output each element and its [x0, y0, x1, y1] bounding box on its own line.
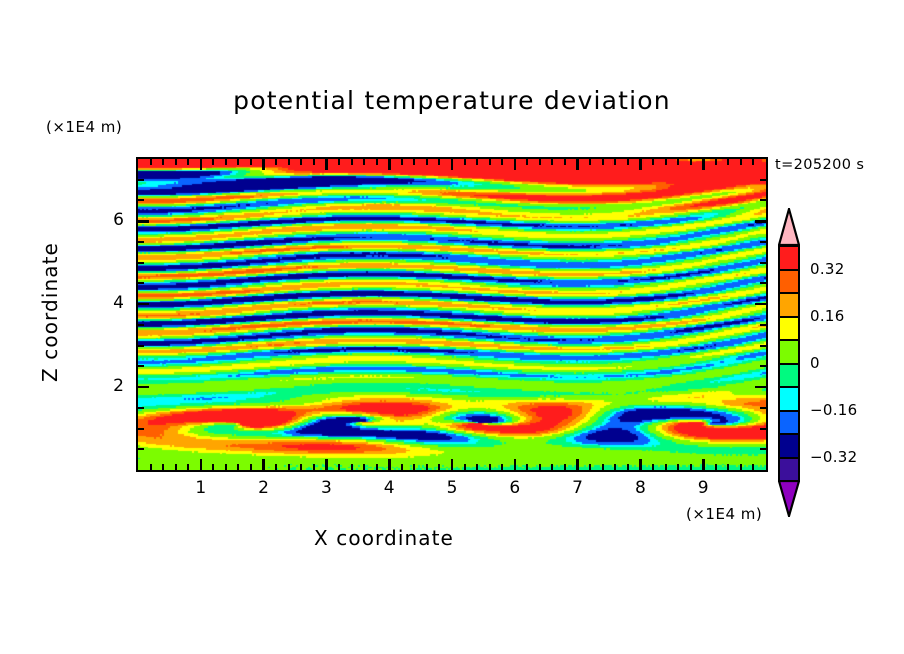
x-tick-major-top — [262, 159, 265, 170]
x-tick-major — [576, 459, 579, 470]
x-tick-major — [388, 459, 391, 470]
x-tick-minor-top — [401, 159, 403, 165]
x-tick-minor-top — [212, 159, 214, 165]
colorbar-band — [778, 245, 800, 271]
y-axis-title: Z coordinate — [38, 202, 62, 422]
colorbar-band — [778, 386, 800, 412]
x-tick-minor — [338, 464, 340, 470]
x-tick-label: 1 — [186, 478, 216, 498]
y-tick-minor-right — [760, 324, 766, 326]
colorbar-cap-top — [778, 208, 800, 245]
x-tick-major-top — [576, 159, 579, 170]
y-tick-minor-right — [760, 345, 766, 347]
x-tick-minor-top — [539, 159, 541, 165]
colorbar-band — [778, 410, 800, 436]
x-tick-minor-top — [150, 159, 152, 165]
y-tick-minor-right — [760, 428, 766, 430]
colorbar-tick-label: −0.16 — [810, 401, 857, 419]
colorbar-band — [778, 292, 800, 318]
x-tick-minor — [740, 464, 742, 470]
x-axis-unit: (×1E4 m) — [686, 505, 762, 523]
x-tick-minor — [526, 464, 528, 470]
x-tick-major — [514, 459, 517, 470]
x-tick-minor-top — [175, 159, 177, 165]
x-tick-major-top — [639, 159, 642, 170]
colorbar-tick-label: 0.16 — [810, 307, 845, 325]
x-tick-minor — [363, 464, 365, 470]
x-tick-minor — [690, 464, 692, 470]
x-tick-minor — [313, 464, 315, 470]
y-tick-label: 6 — [94, 210, 124, 230]
x-tick-minor-top — [677, 159, 679, 165]
x-tick-minor — [413, 464, 415, 470]
x-tick-minor — [489, 464, 491, 470]
x-tick-minor — [376, 464, 378, 470]
x-tick-minor-top — [740, 159, 742, 165]
x-tick-minor — [187, 464, 189, 470]
x-tick-minor-top — [727, 159, 729, 165]
x-tick-minor-top — [225, 159, 227, 165]
x-tick-minor — [665, 464, 667, 470]
y-tick-minor — [138, 282, 144, 284]
x-tick-minor-top — [551, 159, 553, 165]
y-tick-minor — [138, 428, 144, 430]
x-tick-minor-top — [627, 159, 629, 165]
y-tick-minor-right — [760, 448, 766, 450]
colorbar-band — [778, 269, 800, 295]
x-tick-minor-top — [351, 159, 353, 165]
x-tick-label: 7 — [563, 478, 593, 498]
x-tick-minor — [237, 464, 239, 470]
x-tick-minor-top — [237, 159, 239, 165]
x-tick-minor — [752, 464, 754, 470]
x-axis-title: X coordinate — [0, 526, 768, 550]
y-tick-major — [138, 303, 149, 306]
x-tick-minor — [275, 464, 277, 470]
y-tick-minor-right — [760, 365, 766, 367]
x-tick-minor-top — [288, 159, 290, 165]
time-annotation: t=205200 s — [775, 157, 864, 173]
y-tick-minor — [138, 262, 144, 264]
colorbar-tick-label: −0.32 — [810, 448, 857, 466]
x-tick-minor — [715, 464, 717, 470]
x-tick-minor — [539, 464, 541, 470]
x-tick-minor — [250, 464, 252, 470]
contour-field — [138, 159, 766, 470]
x-tick-major — [262, 459, 265, 470]
y-tick-label: 4 — [94, 293, 124, 313]
x-tick-label: 6 — [500, 478, 530, 498]
x-tick-minor — [589, 464, 591, 470]
colorbar-band — [778, 363, 800, 389]
colorbar-tick-label: 0 — [810, 354, 820, 372]
y-tick-minor — [138, 241, 144, 243]
x-tick-minor — [614, 464, 616, 470]
x-tick-minor-top — [313, 159, 315, 165]
colorbar-tick-label: 0.32 — [810, 260, 845, 278]
x-tick-minor-top — [300, 159, 302, 165]
x-tick-minor-top — [376, 159, 378, 165]
x-tick-major — [451, 459, 454, 470]
colorbar-cap-bottom — [778, 480, 800, 517]
x-tick-minor-top — [162, 159, 164, 165]
x-tick-minor-top — [652, 159, 654, 165]
x-tick-minor-top — [526, 159, 528, 165]
y-tick-minor-right — [760, 407, 766, 409]
x-tick-label: 5 — [437, 478, 467, 498]
y-tick-minor — [138, 324, 144, 326]
x-tick-minor — [501, 464, 503, 470]
y-tick-minor-right — [760, 199, 766, 201]
x-tick-minor — [150, 464, 152, 470]
x-tick-minor — [351, 464, 353, 470]
x-tick-minor-top — [187, 159, 189, 165]
y-tick-minor-right — [760, 262, 766, 264]
x-tick-minor — [288, 464, 290, 470]
x-tick-minor-top — [426, 159, 428, 165]
x-tick-minor — [602, 464, 604, 470]
x-tick-minor — [464, 464, 466, 470]
y-tick-minor-right — [760, 179, 766, 181]
x-tick-minor-top — [589, 159, 591, 165]
y-tick-major-right — [755, 386, 766, 389]
x-tick-minor-top — [363, 159, 365, 165]
x-tick-major-top — [451, 159, 454, 170]
x-tick-major-top — [200, 159, 203, 170]
x-tick-minor — [677, 464, 679, 470]
colorbar-band — [778, 316, 800, 342]
x-tick-minor-top — [690, 159, 692, 165]
colorbar: 0.320.160−0.16−0.32 — [778, 208, 802, 515]
y-tick-major-right — [755, 303, 766, 306]
colorbar-band — [778, 339, 800, 365]
y-tick-label: 2 — [94, 376, 124, 396]
page-title: potential temperature deviation — [0, 86, 904, 115]
x-tick-minor — [162, 464, 164, 470]
y-tick-minor — [138, 345, 144, 347]
x-tick-major — [200, 459, 203, 470]
x-tick-minor — [476, 464, 478, 470]
y-tick-minor — [138, 365, 144, 367]
y-tick-major — [138, 220, 149, 223]
x-tick-major — [325, 459, 328, 470]
x-tick-minor — [300, 464, 302, 470]
colorbar-band — [778, 433, 800, 459]
x-tick-minor — [401, 464, 403, 470]
x-tick-minor — [727, 464, 729, 470]
x-tick-minor-top — [715, 159, 717, 165]
x-tick-minor — [438, 464, 440, 470]
x-tick-minor-top — [250, 159, 252, 165]
contour-plot-area — [136, 157, 768, 472]
z-axis-unit: (×1E4 m) — [46, 118, 122, 136]
x-tick-minor-top — [489, 159, 491, 165]
x-tick-minor — [225, 464, 227, 470]
x-tick-major-top — [514, 159, 517, 170]
x-tick-minor — [212, 464, 214, 470]
y-tick-minor — [138, 407, 144, 409]
x-tick-label: 9 — [688, 478, 718, 498]
x-tick-minor — [175, 464, 177, 470]
x-tick-major-top — [702, 159, 705, 170]
x-tick-major — [639, 459, 642, 470]
x-tick-label: 4 — [374, 478, 404, 498]
x-tick-label: 3 — [311, 478, 341, 498]
y-tick-minor — [138, 448, 144, 450]
x-tick-major-top — [325, 159, 328, 170]
x-tick-minor-top — [275, 159, 277, 165]
x-tick-minor — [627, 464, 629, 470]
y-tick-major — [138, 386, 149, 389]
x-tick-major — [702, 459, 705, 470]
y-tick-minor — [138, 179, 144, 181]
x-tick-minor-top — [602, 159, 604, 165]
x-tick-minor-top — [338, 159, 340, 165]
x-tick-minor-top — [413, 159, 415, 165]
x-tick-minor-top — [501, 159, 503, 165]
x-tick-minor — [551, 464, 553, 470]
x-tick-minor — [426, 464, 428, 470]
y-tick-minor — [138, 199, 144, 201]
x-tick-minor — [564, 464, 566, 470]
x-tick-minor-top — [564, 159, 566, 165]
x-tick-minor-top — [438, 159, 440, 165]
x-tick-minor-top — [752, 159, 754, 165]
y-tick-major-right — [755, 220, 766, 223]
x-tick-minor-top — [464, 159, 466, 165]
colorbar-band — [778, 457, 800, 483]
y-tick-minor-right — [760, 241, 766, 243]
x-tick-label: 2 — [249, 478, 279, 498]
x-tick-minor — [652, 464, 654, 470]
x-tick-label: 8 — [625, 478, 655, 498]
x-tick-minor-top — [614, 159, 616, 165]
y-tick-minor-right — [760, 282, 766, 284]
x-tick-minor-top — [476, 159, 478, 165]
x-tick-major-top — [388, 159, 391, 170]
x-tick-minor-top — [665, 159, 667, 165]
